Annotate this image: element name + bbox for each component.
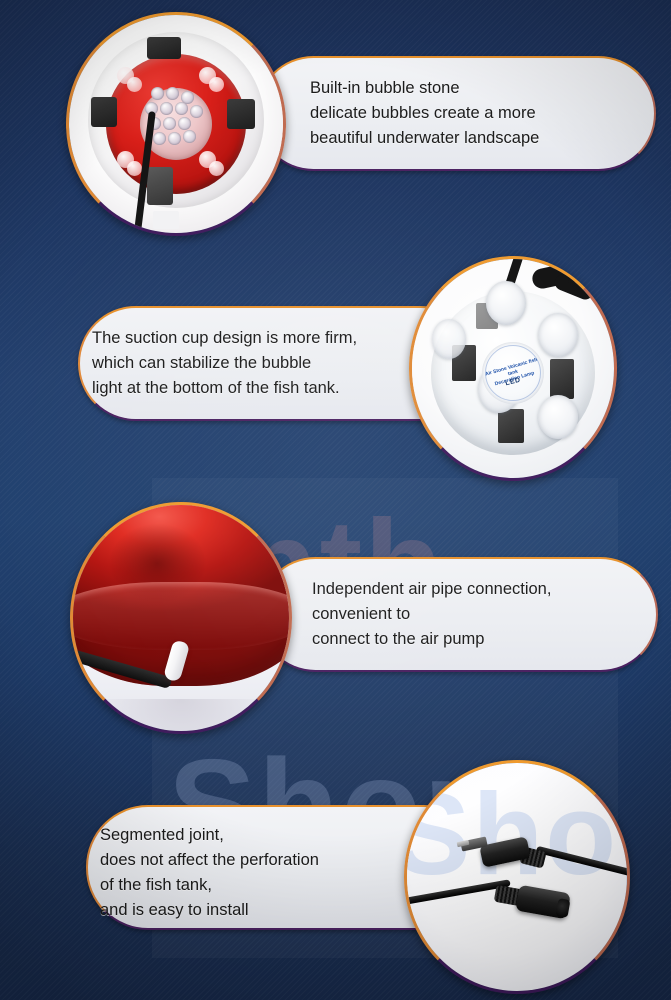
feature-text-bubble-stone: Built-in bubble stone delicate bubbles c… bbox=[310, 76, 539, 151]
feature-text-air-pipe: Independent air pipe connection, conveni… bbox=[312, 577, 551, 652]
product-infographic-page: rinth Shop Built-in bubble stone delicat… bbox=[0, 0, 671, 1000]
feature-text-segmented-joint: Segmented joint, does not affect the per… bbox=[100, 823, 319, 923]
watermark-ghost-in-photo: Shop bbox=[404, 767, 630, 901]
photo-red-led-bubble-lamp bbox=[66, 12, 286, 236]
photo-clear-suction-cup-base: Air Stone Volcanic fish tank Decoration … bbox=[409, 256, 617, 481]
photo-red-dome-air-nozzle bbox=[70, 502, 292, 734]
feature-callout-bubble-stone: Built-in bubble stone delicate bubbles c… bbox=[256, 56, 656, 171]
feature-callout-air-pipe: Independent air pipe connection, conveni… bbox=[258, 557, 658, 672]
feature-text-suction-cup: The suction cup design is more firm, whi… bbox=[92, 326, 357, 401]
product-label-disc: Air Stone Volcanic fish tank Decoration … bbox=[482, 342, 544, 404]
photo-dc-barrel-connectors: Shop bbox=[404, 760, 630, 994]
